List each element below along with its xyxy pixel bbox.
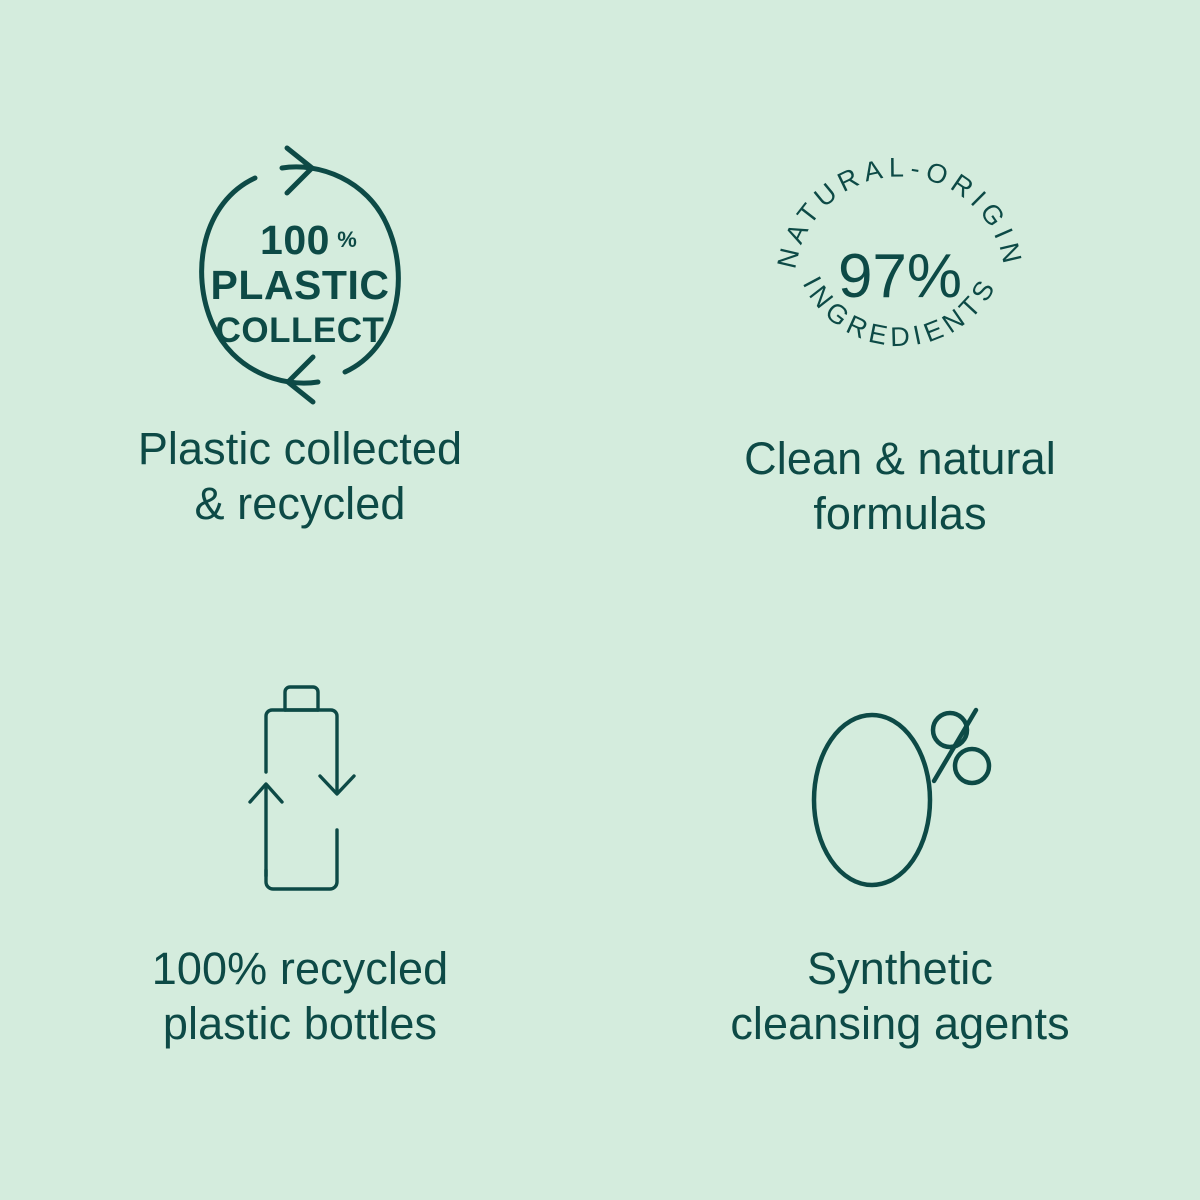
- claim-card-zero-synthetic: Synthetic cleansing agents: [600, 600, 1200, 1200]
- claim-caption-plastic-collect: Plastic collected & recycled: [138, 422, 462, 532]
- claims-grid: 100 % PLASTIC COLLECT Plastic collected …: [0, 0, 1200, 1200]
- seal-center-value: 97%: [838, 242, 962, 311]
- recycle-loop-icon: 100 % PLASTIC COLLECT: [185, 150, 415, 400]
- badge-word-collect: COLLECT: [216, 311, 385, 350]
- claim-caption-zero-synthetic: Synthetic cleansing agents: [730, 942, 1069, 1052]
- badge-word-plastic: PLASTIC: [211, 262, 390, 308]
- claim-caption-natural-origin: Clean & natural formulas: [744, 432, 1056, 542]
- claim-card-plastic-collect: 100 % PLASTIC COLLECT Plastic collected …: [0, 0, 600, 600]
- circular-text-seal-icon: NATURAL-ORIGIN INGREDIENTS 97%: [765, 150, 1035, 410]
- claim-caption-recycled-bottle: 100% recycled plastic bottles: [152, 942, 448, 1052]
- claim-card-natural-origin: NATURAL-ORIGIN INGREDIENTS 97% Clean & n…: [600, 0, 1200, 600]
- eco-claims-board: 100 % PLASTIC COLLECT Plastic collected …: [0, 0, 1200, 1200]
- bottle-recycle-arrows-icon: [230, 680, 370, 900]
- claim-card-recycled-bottle: 100% recycled plastic bottles: [0, 600, 600, 1200]
- badge-value: 100: [260, 217, 330, 263]
- zero-percent-icon: [800, 680, 1000, 900]
- badge-unit: %: [337, 227, 357, 252]
